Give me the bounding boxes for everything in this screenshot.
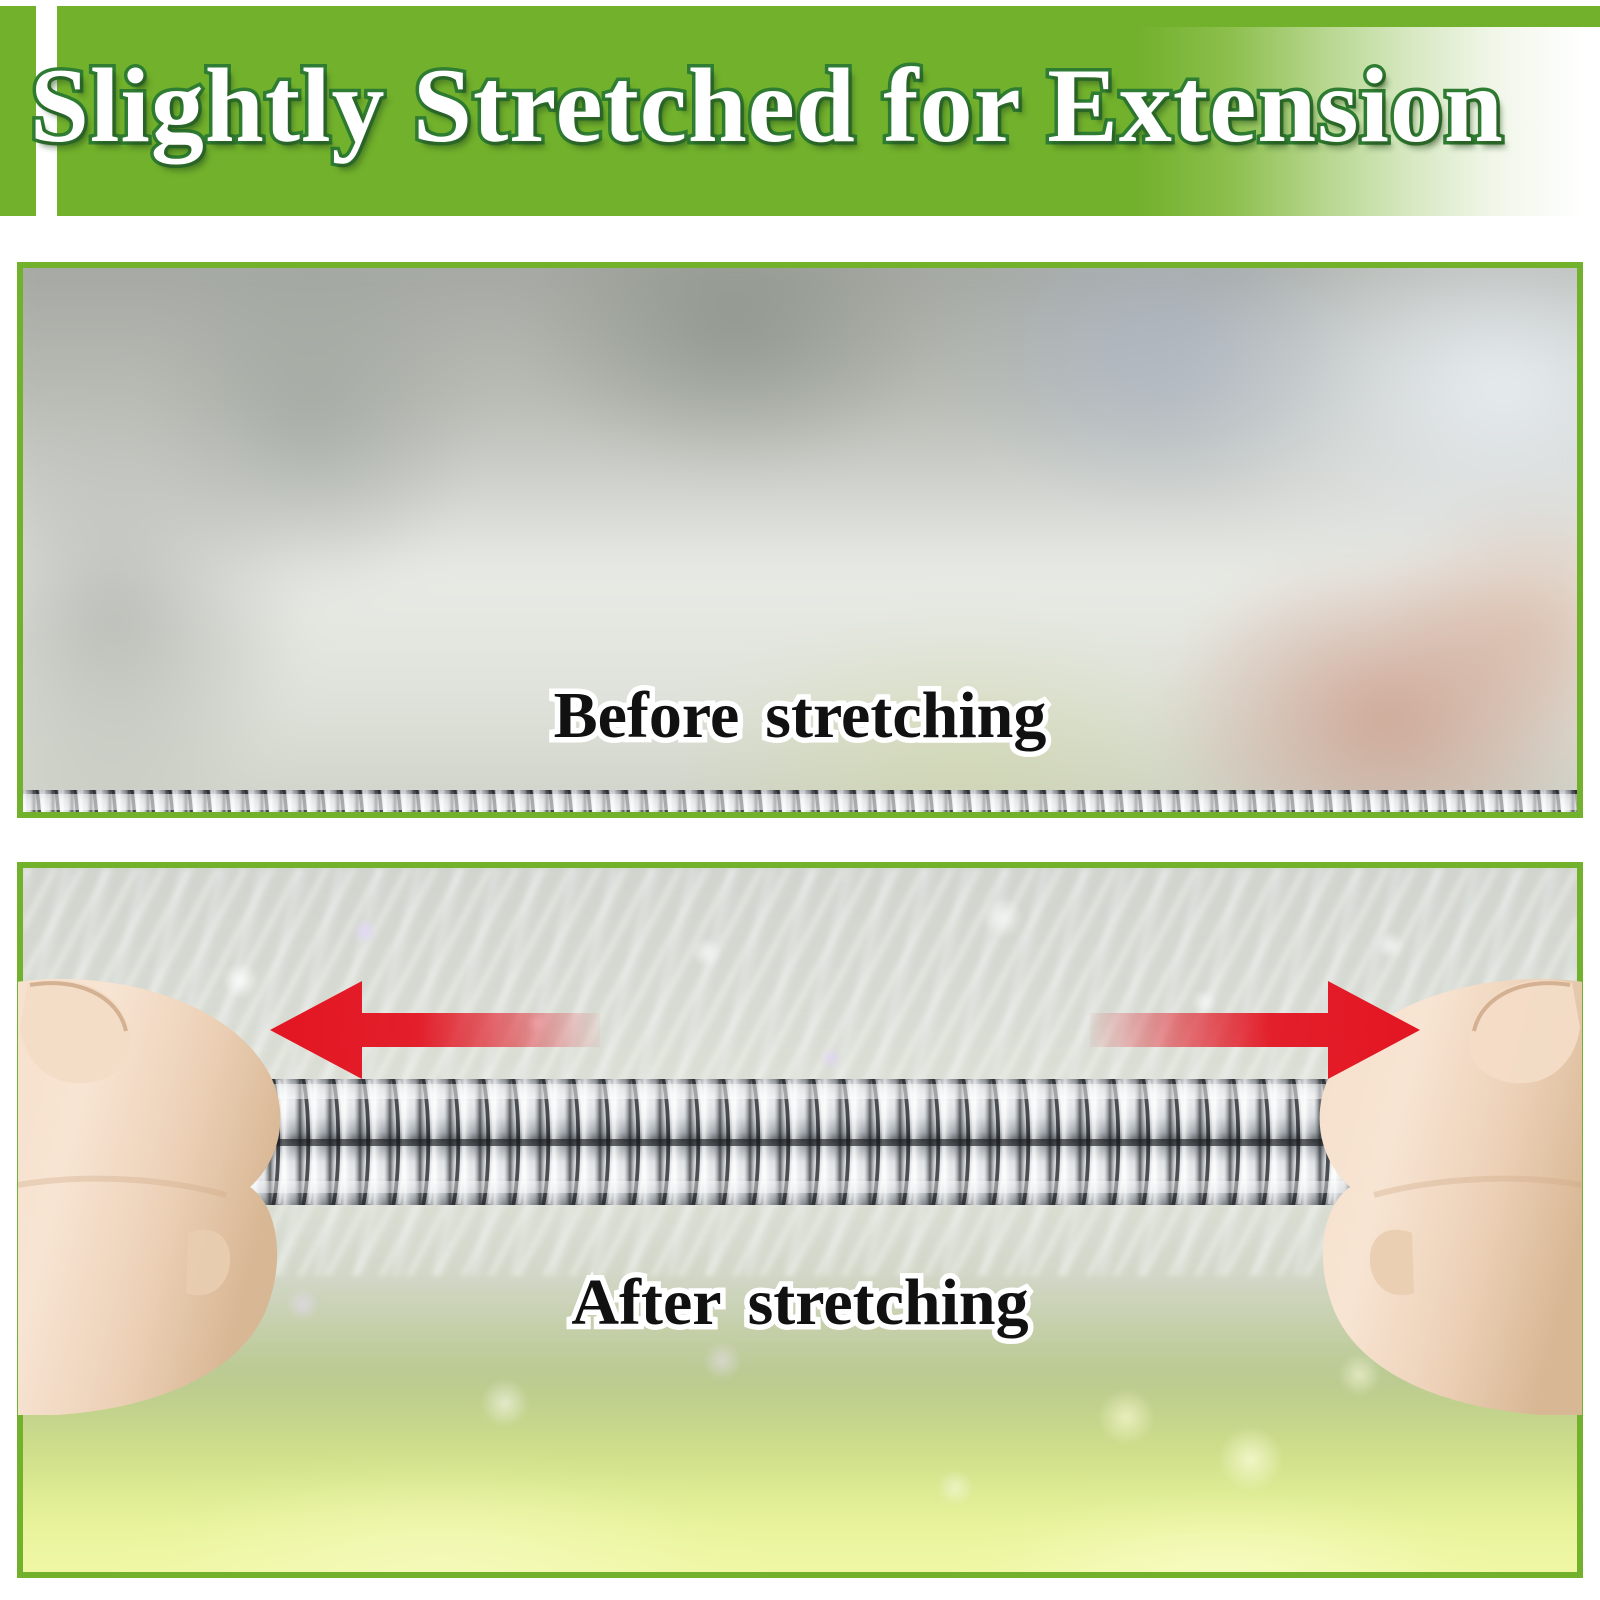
stretch-arrow-right-icon bbox=[1090, 975, 1420, 1085]
before-stretching-label: Beforestretching bbox=[23, 678, 1577, 754]
stretch-arrow-left-icon bbox=[270, 975, 600, 1085]
before-stretching-panel: Beforestretching bbox=[17, 262, 1583, 818]
page-title: Slightly Stretched for Extension bbox=[30, 36, 1590, 176]
after-stretching-label: Afterstretching bbox=[0, 1265, 1600, 1341]
hose-before-stretching bbox=[17, 786, 1583, 818]
before-label-word2: stretching bbox=[765, 679, 1046, 752]
hose-after-stretching bbox=[180, 1075, 1380, 1209]
header-top-strip bbox=[57, 6, 1600, 27]
after-label-word2: stretching bbox=[748, 1266, 1029, 1339]
before-label-word1: Before bbox=[554, 679, 740, 752]
after-label-word1: After bbox=[571, 1266, 721, 1339]
header-banner: Slightly Stretched for Extension bbox=[0, 0, 1600, 222]
